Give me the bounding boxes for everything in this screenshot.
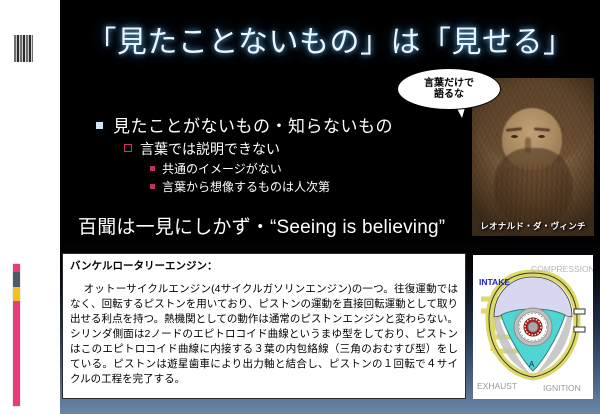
engine-label-intake: INTAKE (479, 277, 510, 287)
list-item-label: 言葉では説明できない (140, 139, 280, 159)
slide-root: 「見たことないもの」は「見せる」 見たことがないもの・知らないもの 言葉では説明… (0, 0, 600, 414)
bullet-square-outline-icon (124, 144, 132, 152)
bullet-square-small-icon (150, 166, 155, 171)
rotary-engine-diagram: INTAKE COMPRESSION EXHAUST IGNITION A (473, 255, 593, 399)
engine-output-shaft (528, 322, 538, 332)
engine-label-exhaust: EXHAUST (477, 381, 517, 391)
engine-label-ignition: IGNITION (543, 383, 581, 393)
slide-canvas: 「見たことないもの」は「見せる」 見たことがないもの・知らないもの 言葉では説明… (60, 0, 600, 414)
pink-color-bar (13, 264, 20, 406)
list-item-label: 言葉から想像するものは人次第 (162, 178, 330, 195)
speech-bubble-line-2: 語るな (434, 89, 464, 100)
portrait-beard-strands (492, 164, 576, 226)
portrait-eye-left (511, 135, 518, 138)
film-strip-stripes-icon (14, 35, 33, 62)
tagline-text: 百聞は一見にしかず・“Seeing is believing” (78, 212, 445, 239)
list-item: 言葉から想像するものは人次第 (150, 178, 496, 195)
list-item: 見たことがないもの・知らないもの (96, 112, 496, 137)
engine-label-compression: COMPRESSION (531, 264, 593, 274)
page-title: 「見たことないもの」は「見せる」 (60, 17, 600, 61)
list-item-label: 共通のイメージがない (162, 160, 282, 177)
speech-bubble: 言葉だけで 語るな (397, 68, 501, 110)
color-bar-segment-slate (13, 272, 20, 287)
rotary-engine-svg: INTAKE COMPRESSION EXHAUST IGNITION A (473, 255, 593, 399)
list-item: 言葉では説明できない (124, 139, 496, 159)
description-text-box: バンケルロータリーエンジン： オットーサイクルエンジン(4サイクルガソリンエンジ… (62, 253, 466, 399)
bullet-square-small-icon (150, 184, 155, 189)
engine-label-rotor-apex: A (529, 360, 535, 369)
list-item-label: 見たことがないもの・知らないもの (113, 112, 393, 137)
bullet-list: 見たことがないもの・知らないもの 言葉では説明できない 共通のイメージがない 言… (96, 112, 496, 196)
portrait-caption: レオナルド・ダ・ヴィンチ (472, 220, 594, 232)
color-bar-segment-gold (13, 287, 20, 301)
speech-bubble-line-1: 言葉だけで (424, 78, 474, 89)
description-body: オットーサイクルエンジン(4サイクルガソリンエンジン)の一つ。往復運動ではなく、… (70, 282, 458, 386)
bullet-square-icon (96, 122, 103, 129)
left-rail (0, 0, 60, 414)
list-item: 共通のイメージがない (150, 160, 496, 177)
description-heading: バンケルロータリーエンジン： (70, 260, 458, 273)
portrait-eye-right (538, 135, 545, 138)
speech-bubble-body: 言葉だけで 語るな (397, 68, 501, 110)
